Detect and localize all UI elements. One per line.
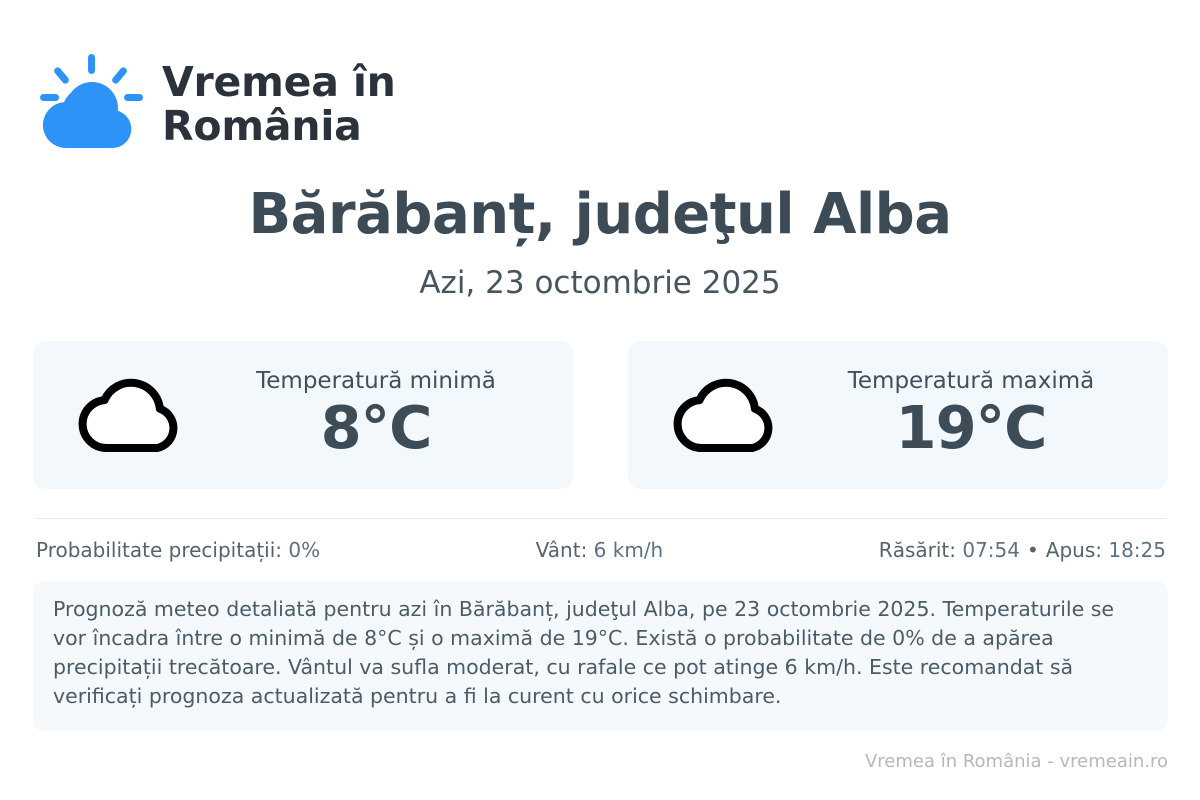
weather-page: Vremea în România Bărăbanț, judeţul Alba… xyxy=(0,0,1200,800)
precipitation-stat: Probabilitate precipitații: 0% xyxy=(36,538,320,562)
cloud-icon xyxy=(666,370,794,460)
sunset-label: Apus: xyxy=(1046,538,1109,562)
temperature-cards: Temperatură minimă 8°C Temperatură maxim… xyxy=(33,341,1168,489)
wind-value: 6 km/h xyxy=(594,538,664,562)
sun-cloud-icon xyxy=(36,52,144,158)
temperature-max-label: Temperatură maximă xyxy=(794,369,1148,394)
temperature-card-min: Temperatură minimă 8°C xyxy=(33,341,573,489)
sunrise-value: 07:54 xyxy=(962,538,1020,562)
cloud-icon xyxy=(71,370,199,460)
stats-divider xyxy=(36,518,1166,519)
precipitation-label: Probabilitate precipitații: xyxy=(36,538,288,562)
wind-label: Vânt: xyxy=(536,538,594,562)
footer-credit: Vremea în România - vremeain.ro xyxy=(865,751,1168,772)
temperature-min-label: Temperatură minimă xyxy=(199,369,553,394)
brand-name: Vremea în România xyxy=(162,61,396,149)
sunrise-label: Răsărit: xyxy=(879,538,963,562)
temperature-max-value: 19°C xyxy=(794,396,1148,461)
page-title: Bărăbanț, judeţul Alba xyxy=(0,182,1200,247)
precipitation-value: 0% xyxy=(288,538,320,562)
sunset-value: 18:25 xyxy=(1108,538,1166,562)
sun-times-separator: • xyxy=(1020,538,1046,562)
stats-row: Probabilitate precipitații: 0% Vânt: 6 k… xyxy=(36,538,1166,562)
brand-logo[interactable]: Vremea în România xyxy=(36,52,396,158)
page-subtitle: Azi, 23 octombrie 2025 xyxy=(0,265,1200,301)
temperature-card-max: Temperatură maximă 19°C xyxy=(628,341,1168,489)
temperature-min-body: Temperatură minimă 8°C xyxy=(199,369,573,461)
temperature-max-body: Temperatură maximă 19°C xyxy=(794,369,1168,461)
forecast-description: Prognoză meteo detaliată pentru azi în B… xyxy=(33,581,1168,731)
wind-stat: Vânt: 6 km/h xyxy=(320,538,879,562)
sun-times-stat: Răsărit: 07:54•Apus: 18:25 xyxy=(879,538,1166,562)
temperature-min-value: 8°C xyxy=(199,396,553,461)
